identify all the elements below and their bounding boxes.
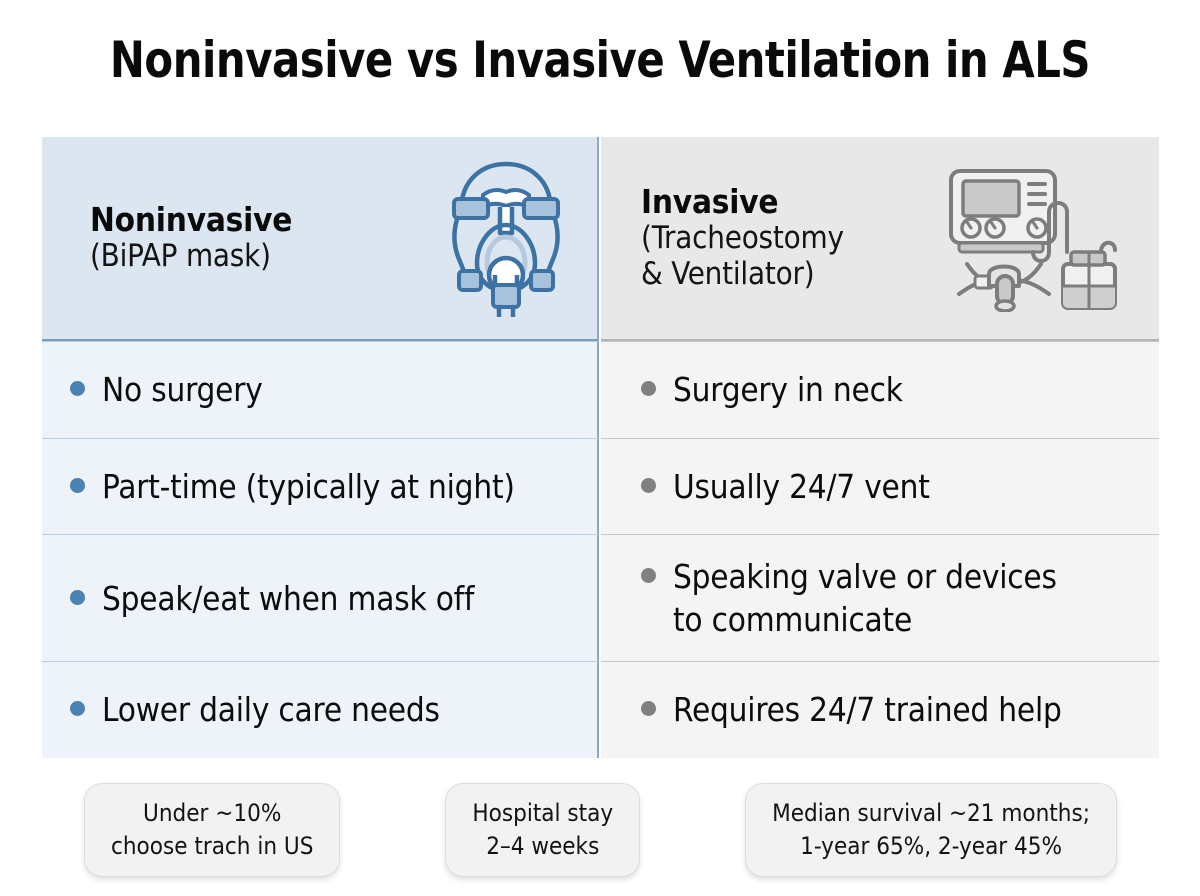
- table-body: No surgery Surgery in neck Part-time (ty…: [42, 341, 1159, 758]
- bullet-item: Usually 24/7 vent: [601, 465, 1159, 509]
- bullet-dot-icon: [641, 568, 656, 583]
- bullet-dot-icon: [641, 701, 656, 716]
- cell-invasive-3: Speaking valve or devices to communicate: [601, 534, 1159, 661]
- ventilator-tracheostomy-icon: [943, 163, 1133, 313]
- bullet-item: Speaking valve or devices to communicate: [601, 555, 1159, 642]
- column-header-invasive-text: Invasive (Tracheostomy & Ventilator): [641, 183, 844, 293]
- infographic-page: Noninvasive vs Invasive Ventilation in A…: [0, 0, 1200, 896]
- bipap-mask-icon: [441, 158, 571, 318]
- table-row: Speak/eat when mask off Speaking valve o…: [42, 534, 1159, 661]
- footer-stats: Under ~10% choose trach in US Hospital s…: [42, 783, 1159, 875]
- bullet-dot-icon: [70, 701, 85, 716]
- column-header-invasive-sub: (Tracheostomy & Ventilator): [641, 221, 844, 293]
- stat-pill-trach-uptake: Under ~10% choose trach in US: [84, 783, 340, 877]
- bullet-dot-icon: [70, 478, 85, 493]
- bullet-dot-icon: [641, 381, 656, 396]
- cell-noninvasive-1: No surgery: [42, 341, 599, 438]
- table-row: Lower daily care needs Requires 24/7 tra…: [42, 661, 1159, 758]
- page-title: Noninvasive vs Invasive Ventilation in A…: [42, 34, 1158, 87]
- bullet-dot-icon: [70, 590, 85, 605]
- table-row: No surgery Surgery in neck: [42, 341, 1159, 438]
- bullet-item: Surgery in neck: [601, 368, 1159, 412]
- stat-pill-median-survival: Median survival ~21 months; 1-year 65%, …: [745, 783, 1117, 877]
- table-row: Part-time (typically at night) Usually 2…: [42, 438, 1159, 535]
- cell-noninvasive-4: Lower daily care needs: [42, 661, 599, 758]
- bullet-text: Speaking valve or devices to communicate: [673, 555, 1057, 642]
- bullet-item: Lower daily care needs: [42, 688, 597, 732]
- bullet-text: No surgery: [102, 368, 263, 412]
- cell-noninvasive-2: Part-time (typically at night): [42, 438, 599, 535]
- column-header-noninvasive: Noninvasive (BiPAP mask): [42, 137, 599, 341]
- comparison-table: Noninvasive (BiPAP mask): [42, 137, 1159, 758]
- bullet-item: Part-time (typically at night): [42, 465, 597, 509]
- bullet-text: Usually 24/7 vent: [673, 465, 930, 509]
- bullet-dot-icon: [641, 478, 656, 493]
- bullet-item: Speak/eat when mask off: [42, 577, 597, 621]
- cell-invasive-4: Requires 24/7 trained help: [601, 661, 1159, 758]
- column-header-noninvasive-main: Noninvasive: [90, 201, 292, 239]
- bullet-text: Requires 24/7 trained help: [673, 688, 1062, 732]
- bullet-text: Surgery in neck: [673, 368, 903, 412]
- cell-noninvasive-3: Speak/eat when mask off: [42, 534, 599, 661]
- stat-pill-hospital-stay: Hospital stay 2–4 weeks: [445, 783, 640, 877]
- column-header-noninvasive-sub: (BiPAP mask): [90, 239, 292, 275]
- bullet-text: Speak/eat when mask off: [102, 577, 474, 621]
- bullet-text: Lower daily care needs: [102, 688, 440, 732]
- column-header-invasive: Invasive (Tracheostomy & Ventilator): [601, 137, 1159, 341]
- bullet-item: Requires 24/7 trained help: [601, 688, 1159, 732]
- column-header-noninvasive-text: Noninvasive (BiPAP mask): [90, 201, 292, 275]
- table-header-row: Noninvasive (BiPAP mask): [42, 137, 1159, 341]
- bullet-dot-icon: [70, 381, 85, 396]
- bullet-text: Part-time (typically at night): [102, 465, 515, 509]
- bullet-item: No surgery: [42, 368, 597, 412]
- cell-invasive-2: Usually 24/7 vent: [601, 438, 1159, 535]
- column-header-invasive-main: Invasive: [641, 183, 844, 221]
- cell-invasive-1: Surgery in neck: [601, 341, 1159, 438]
